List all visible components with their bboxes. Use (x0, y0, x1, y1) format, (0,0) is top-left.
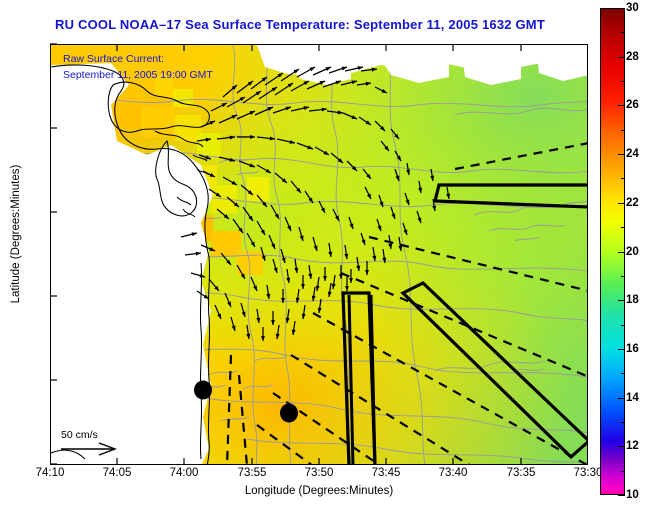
colorbar-tick-24: 24 (626, 148, 639, 160)
x-tick-6: 73:40 (439, 467, 468, 479)
colorbar-minor-tick-15 (621, 373, 625, 374)
colorbar-tickmark-16 (618, 349, 625, 350)
colorbar-tickmark-20 (618, 252, 625, 253)
sst-map-figure: RU COOL NOAA–17 Sea Surface Temperature:… (0, 0, 651, 518)
colorbar-tick-14: 14 (626, 392, 639, 404)
x-tick-4: 73:50 (305, 467, 334, 479)
y-axis-label: Latitude (Degrees:Minutes) (10, 134, 22, 334)
scale-legend-label: 50 cm/s (61, 429, 98, 441)
colorbar-tick-10: 10 (626, 489, 639, 501)
x-tick-8: 73:30 (574, 467, 603, 479)
colorbar-minor-tick-29 (621, 32, 625, 33)
colorbar-tick-30: 30 (626, 2, 639, 14)
colorbar-tick-22: 22 (626, 197, 639, 209)
colorbar-minor-tick-27 (621, 81, 625, 82)
colorbar-tickmark-24 (618, 154, 625, 155)
colorbar-tickmark-22 (618, 203, 625, 204)
x-tick-7: 73:35 (507, 467, 536, 479)
colorbar-tickmark-26 (618, 105, 625, 106)
colorbar-minor-tick-21 (621, 227, 625, 228)
annotation-line-2: September 11, 2005 19:00 GMT (63, 69, 213, 81)
annotation-line-1: Raw Surface Current: (63, 53, 164, 65)
colorbar-tick-28: 28 (626, 51, 639, 63)
colorbar-tickmark-18 (618, 300, 625, 301)
colorbar-tick-26: 26 (626, 99, 639, 111)
colorbar-tickmark-14 (618, 398, 625, 399)
x-tick-2: 74:00 (170, 467, 199, 479)
colorbar-tickmark-10 (618, 495, 625, 496)
colorbar-tick-18: 18 (626, 294, 639, 306)
colorbar-minor-tick-11 (621, 471, 625, 472)
sst-map-svg (51, 45, 587, 464)
colorbar-tick-16: 16 (626, 343, 639, 355)
figure-title: RU COOL NOAA–17 Sea Surface Temperature:… (0, 17, 600, 32)
colorbar-tick-20: 20 (626, 246, 639, 258)
colorbar-minor-tick-23 (621, 178, 625, 179)
colorbar-tickmark-28 (618, 57, 625, 58)
x-tick-0: 74:10 (36, 467, 65, 479)
x-tick-1: 74:05 (103, 467, 132, 479)
x-axis-label: Longitude (Degrees:Minutes) (50, 485, 588, 497)
colorbar-tick-12: 12 (626, 440, 639, 452)
colorbar-minor-tick-25 (621, 130, 625, 131)
colorbar-minor-tick-19 (621, 276, 625, 277)
map-plot-area[interactable]: Raw Surface Current: September 11, 2005 … (50, 44, 588, 465)
colorbar-tickmark-30 (618, 8, 625, 9)
colorbar-tickmark-12 (618, 446, 625, 447)
colorbar-minor-tick-17 (621, 325, 625, 326)
x-tick-3: 73:55 (238, 467, 267, 479)
map-canvas (51, 45, 587, 464)
x-tick-5: 73:45 (372, 467, 401, 479)
colorbar-minor-tick-13 (621, 422, 625, 423)
